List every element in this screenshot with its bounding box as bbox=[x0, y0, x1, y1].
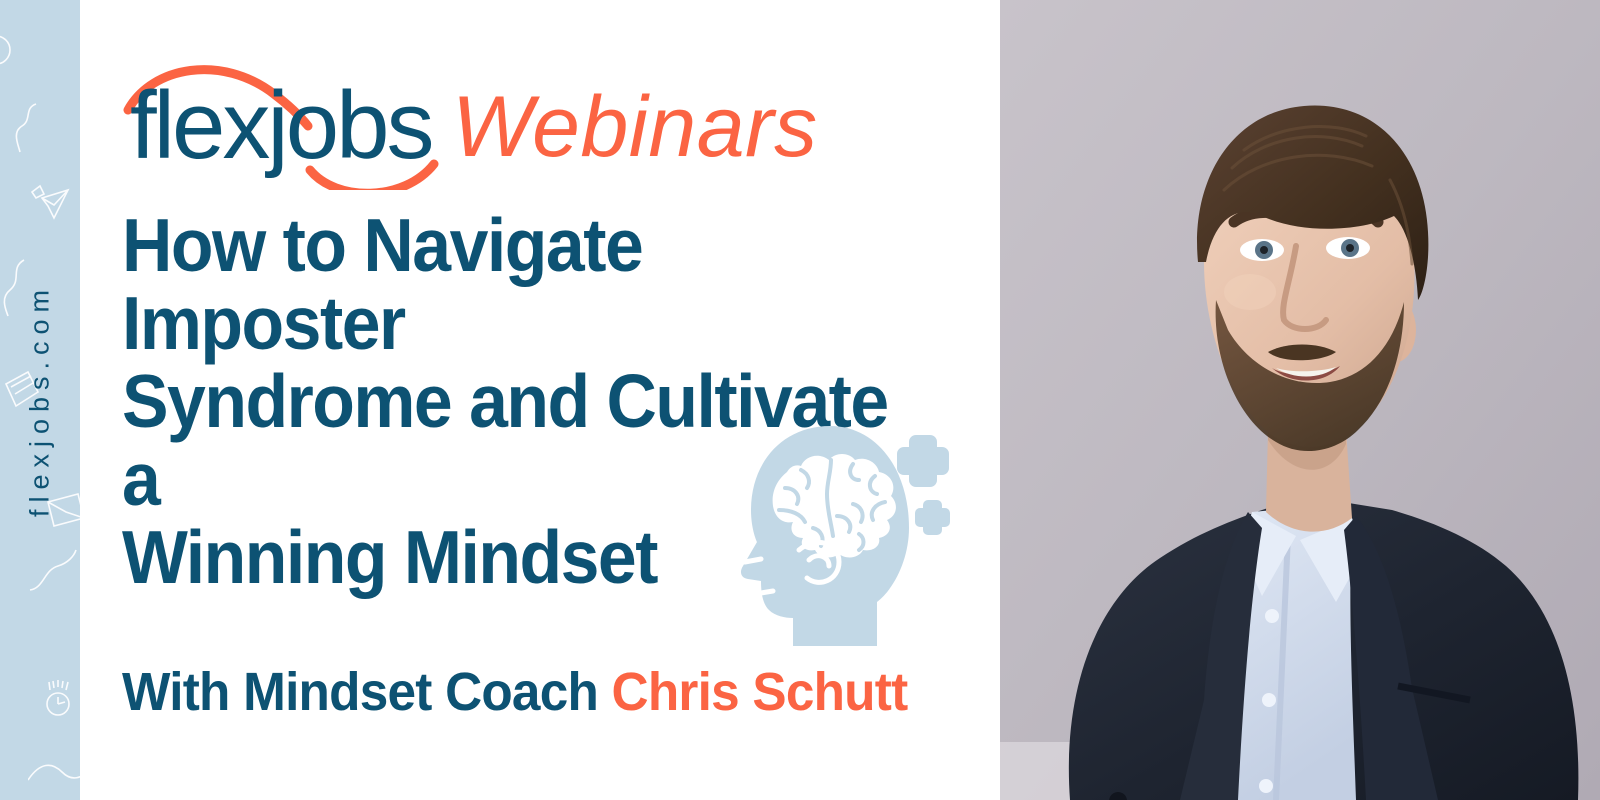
mouth-notch bbox=[755, 591, 773, 594]
presenter-portrait-photo bbox=[1000, 0, 1600, 800]
squiggle-doodle bbox=[28, 548, 78, 594]
shirt-button bbox=[1262, 693, 1276, 707]
portrait-illustration bbox=[1000, 0, 1600, 800]
left-sidebar: flexjobs.com bbox=[0, 0, 80, 800]
shirt-button bbox=[1265, 609, 1279, 623]
sidebar-website-label: flexjobs.com bbox=[25, 283, 56, 517]
shirt-button bbox=[1259, 779, 1273, 793]
headline-line-1: How to Navigate Imposter bbox=[122, 206, 931, 362]
alarm-clock-doodle bbox=[42, 678, 76, 720]
cheek-highlight bbox=[1224, 274, 1276, 310]
plus-accent-large bbox=[897, 435, 949, 487]
wave-doodle bbox=[28, 760, 80, 786]
flexjobs-webinars-logo: flexjobs Webinars bbox=[122, 58, 822, 188]
circle-doodle bbox=[0, 30, 22, 70]
paper-plane-doodle bbox=[28, 178, 74, 222]
pupil-left bbox=[1260, 246, 1268, 254]
logo-suffix: Webinars bbox=[452, 79, 818, 175]
logo-wordmark: flexjobs bbox=[130, 72, 432, 179]
plus-accent-small bbox=[915, 500, 950, 535]
head-with-brain-icon bbox=[735, 418, 955, 653]
brow-notch bbox=[745, 559, 761, 562]
presenter-prefix: With Mindset Coach bbox=[122, 662, 612, 722]
main-content-panel: flexjobs Webinars How to Navigate Impost… bbox=[80, 0, 1000, 800]
logo-svg: flexjobs Webinars bbox=[122, 58, 822, 190]
presenter-name: Chris Schutt bbox=[612, 662, 908, 722]
squiggle-doodle bbox=[6, 102, 46, 154]
pupil-right bbox=[1346, 244, 1354, 252]
webinar-promo-banner: flexjobs.com flexjobs Webinars How to Na… bbox=[0, 0, 1600, 800]
presenter-credit: With Mindset Coach Chris Schutt bbox=[122, 662, 907, 722]
